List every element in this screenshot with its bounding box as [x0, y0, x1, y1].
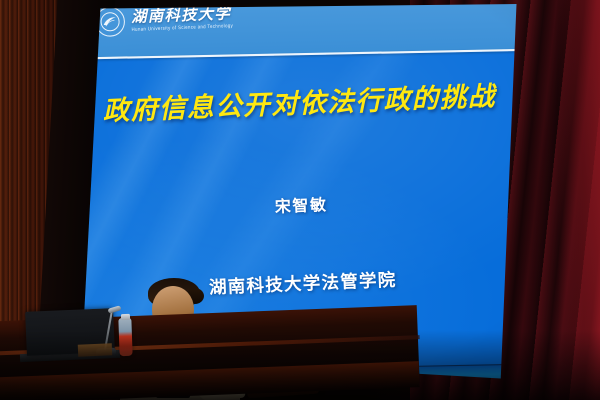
foreground-scene [0, 282, 600, 400]
photo-stage: 湖南科技大学 Hunan University of Science and T… [0, 0, 600, 400]
nameplate [78, 343, 112, 356]
microphone-head [108, 305, 122, 313]
water-bottle [118, 318, 132, 356]
water-bottle-cap [121, 314, 130, 320]
